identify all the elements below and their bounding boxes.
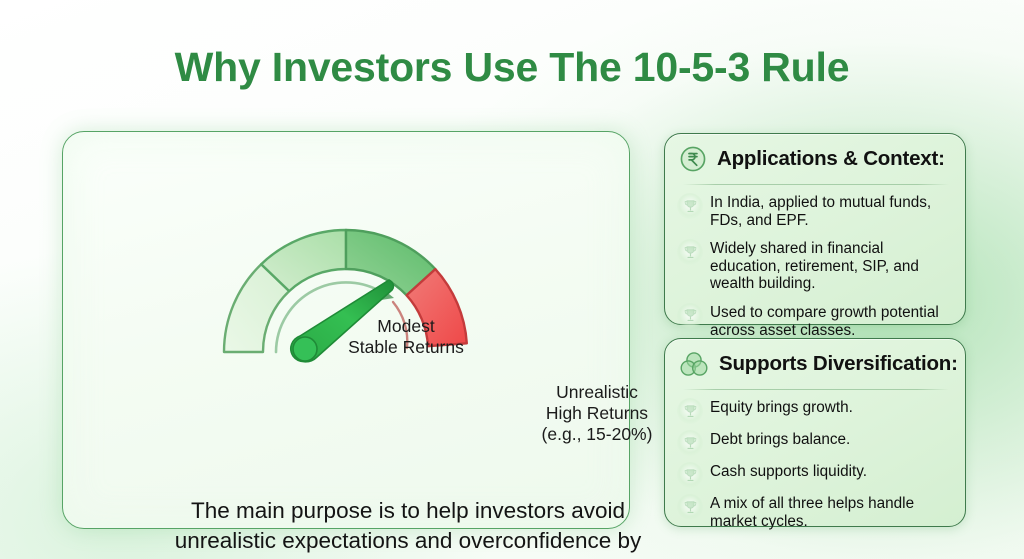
- rupee-coin-icon: [679, 145, 707, 173]
- list-item: A mix of all three helps handle market c…: [677, 493, 955, 530]
- list-item: Used to compare growth potential across …: [677, 302, 955, 339]
- card-diversification-bullet-list: Equity brings growth. Debt brings balanc…: [677, 397, 955, 535]
- list-item: Equity brings growth.: [677, 397, 955, 424]
- list-item: Widely shared in financial education, re…: [677, 238, 955, 293]
- trophy-icon: [677, 303, 703, 329]
- infographic-canvas: Why Investors Use The 10-5-3 Rule: [0, 0, 1024, 559]
- list-item-text: Equity brings growth.: [710, 397, 853, 417]
- main-panel: Modest Stable Returns Unrealistic High R…: [62, 131, 630, 529]
- card-applications-header: Applications & Context:: [665, 134, 965, 182]
- gauge-label-modest-line2: Stable Returns: [313, 337, 499, 358]
- card-applications-context[interactable]: Applications & Context: In India, applie…: [664, 133, 966, 325]
- list-item: Debt brings balance.: [677, 429, 955, 456]
- list-item-text: Used to compare growth potential across …: [710, 302, 955, 339]
- list-item-text: Cash supports liquidity.: [710, 461, 867, 481]
- gauge-label-modest: Modest Stable Returns: [313, 316, 499, 358]
- trophy-icon: [677, 398, 703, 424]
- card-applications-bullet-list: In India, applied to mutual funds, FDs, …: [677, 192, 955, 348]
- trophy-icon: [677, 193, 703, 219]
- list-item-text: A mix of all three helps handle market c…: [710, 493, 955, 530]
- list-item: Cash supports liquidity.: [677, 461, 955, 488]
- card-applications-title: Applications & Context:: [717, 147, 945, 171]
- gauge-label-modest-line1: Modest: [313, 316, 499, 337]
- list-item-text: In India, applied to mutual funds, FDs, …: [710, 192, 955, 229]
- trophy-icon: [677, 494, 703, 520]
- gauge-label-unrealistic: Unrealistic High Returns (e.g., 15-20%): [511, 382, 683, 445]
- gauge-illustration: Modest Stable Returns Unrealistic High R…: [63, 148, 629, 363]
- venn-diagram-icon: [679, 350, 709, 378]
- card-diversification-divider: [683, 389, 949, 390]
- card-applications-divider: [683, 184, 949, 185]
- trophy-icon: [677, 462, 703, 488]
- gauge-label-unrealistic-line1: Unrealistic: [511, 382, 683, 403]
- trophy-icon: [677, 430, 703, 456]
- list-item: In India, applied to mutual funds, FDs, …: [677, 192, 955, 229]
- main-body-text: The main purpose is to help investors av…: [148, 496, 668, 559]
- gauge-label-unrealistic-line3: (e.g., 15-20%): [511, 424, 683, 445]
- card-diversification-title: Supports Diversification:: [719, 352, 958, 376]
- list-item-text: Debt brings balance.: [710, 429, 850, 449]
- card-supports-diversification[interactable]: Supports Diversification: Equity brings …: [664, 338, 966, 527]
- trophy-icon: [677, 239, 703, 265]
- list-item-text: Widely shared in financial education, re…: [710, 238, 955, 293]
- gauge-label-unrealistic-line2: High Returns: [511, 403, 683, 424]
- card-diversification-header: Supports Diversification:: [665, 339, 965, 387]
- page-title: Why Investors Use The 10-5-3 Rule: [0, 44, 1024, 91]
